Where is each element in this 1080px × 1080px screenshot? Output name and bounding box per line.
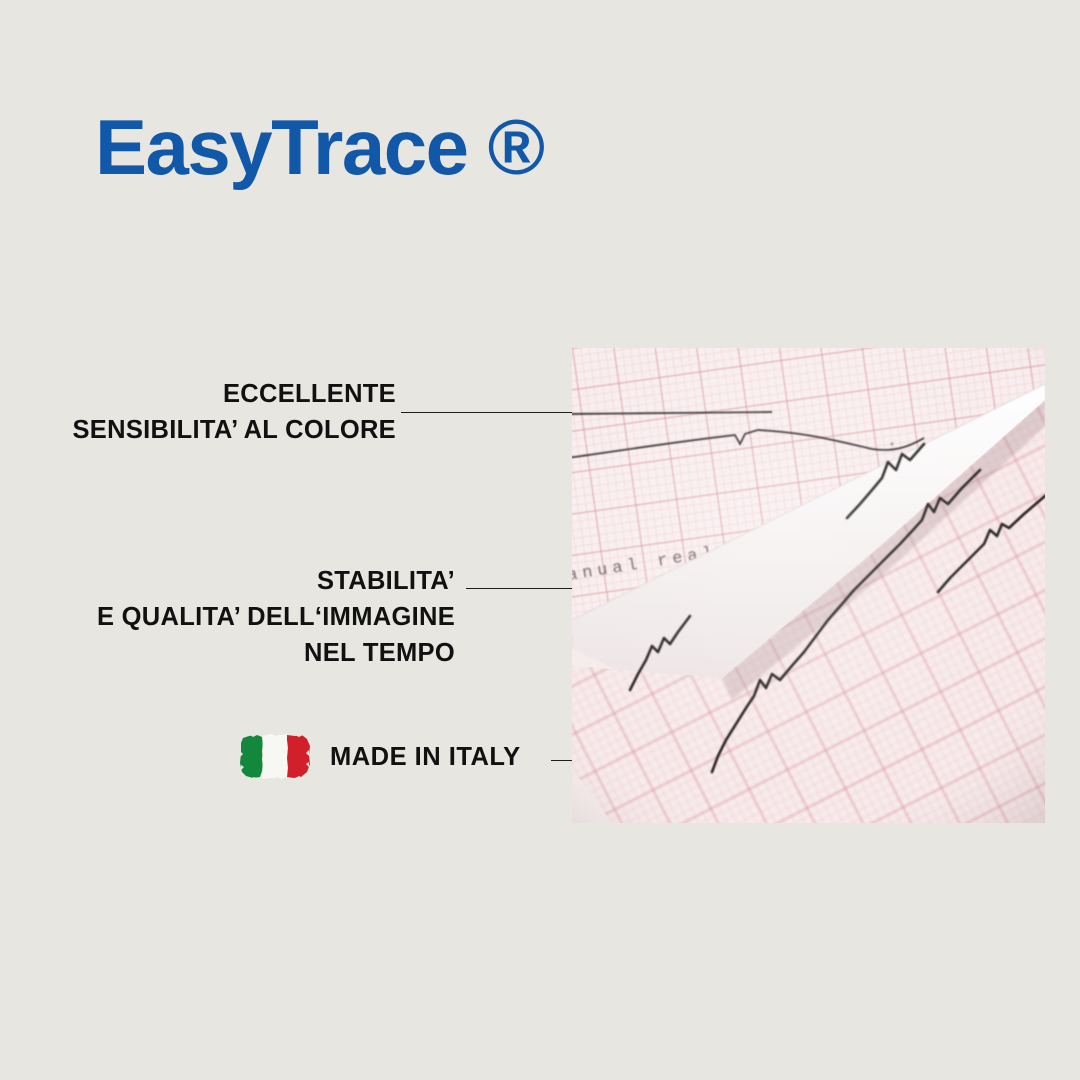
made-in-italy-badge: MADE IN ITALY — [238, 731, 521, 783]
page-title: EasyTrace ® — [95, 108, 544, 186]
feature-2-line-3: NEL TEMPO — [0, 635, 455, 671]
made-in-italy-label: MADE IN ITALY — [330, 743, 521, 772]
ecg-paper-photo: anual real. — [572, 348, 1045, 823]
feature-2-line-1: STABILITA’ — [0, 563, 455, 599]
italian-flag-icon — [238, 731, 312, 783]
feature-1-line-2: SENSIBILITA’ AL COLORE — [0, 412, 396, 448]
feature-label-color-sensitivity: ECCELLENTE SENSIBILITA’ AL COLORE — [0, 376, 396, 448]
feature-1-line-1: ECCELLENTE — [0, 376, 396, 412]
feature-2-line-2: E QUALITA’ DELL‘IMMAGINE — [0, 599, 455, 635]
infographic-canvas: EasyTrace ® ECCELLENTE SENSIBILITA’ AL C… — [0, 0, 1080, 1080]
feature-label-image-stability: STABILITA’ E QUALITA’ DELL‘IMMAGINE NEL … — [0, 563, 455, 672]
